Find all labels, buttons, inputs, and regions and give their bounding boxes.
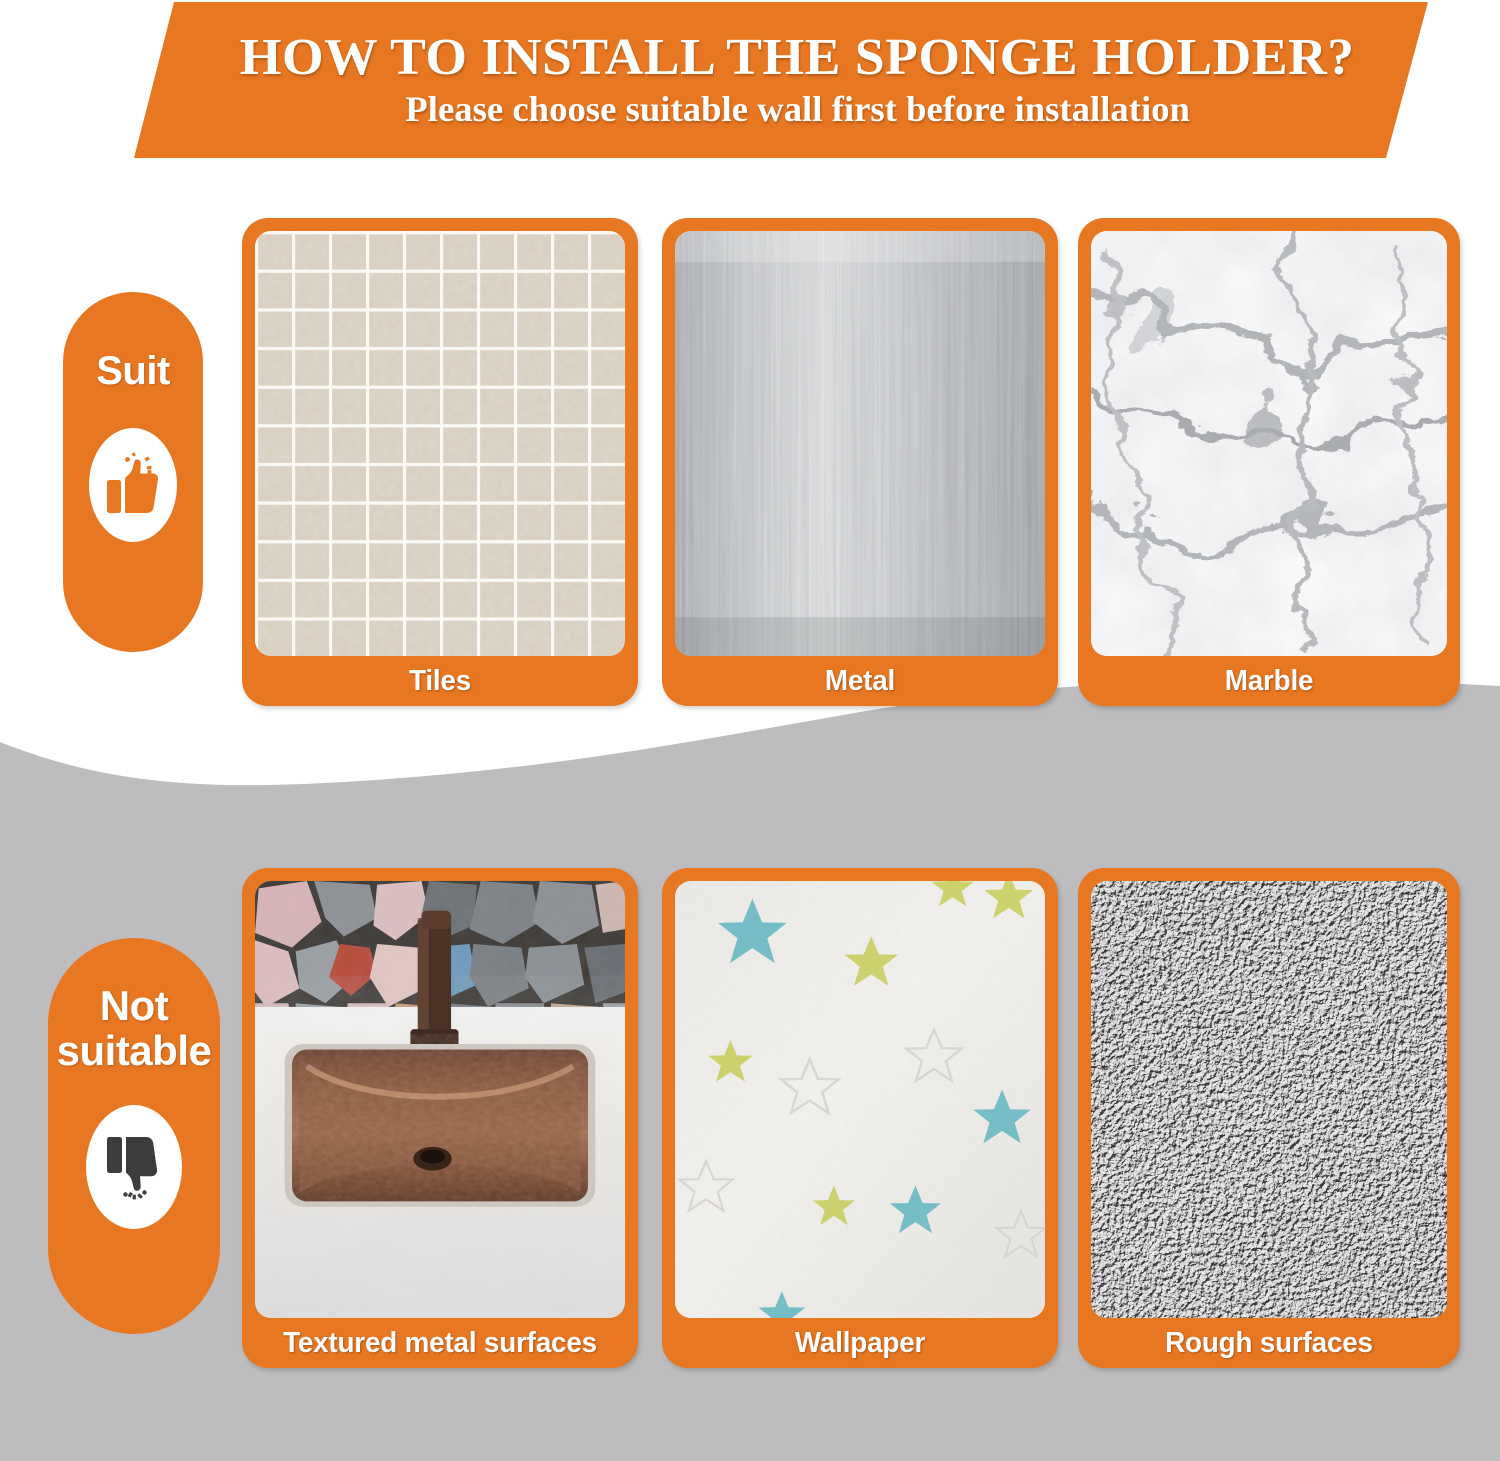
card-wallpaper: Wallpaper (662, 868, 1058, 1368)
card-wallpaper-image (675, 881, 1045, 1318)
card-marble: Marble (1078, 218, 1460, 706)
mosaic-tile-texture (255, 231, 625, 656)
card-metal-image (675, 231, 1045, 656)
marble-texture (1091, 231, 1447, 656)
star-wallpaper-texture (675, 881, 1045, 1318)
card-rough-image (1091, 881, 1447, 1318)
card-tiles-caption: Tiles (262, 656, 617, 706)
card-wallpaper-caption: Wallpaper (682, 1318, 1037, 1368)
badge-suitable-label: Suit (96, 350, 170, 392)
card-tiles: Tiles (242, 218, 638, 706)
card-rough: Rough surfaces (1078, 868, 1460, 1368)
card-tiles-image (255, 231, 625, 656)
thumbs-up-icon (105, 452, 161, 518)
badge-suitable: Suit (63, 292, 203, 652)
thumbs-down-icon (104, 1131, 164, 1203)
header-banner: HOW TO INSTALL THE SPONGE HOLDER? Please… (0, 0, 1500, 168)
rough-stucco-texture (1091, 881, 1447, 1318)
brushed-metal-texture (675, 231, 1045, 656)
badge-not-suitable-line1: Not (100, 982, 168, 1029)
badge-not-suitable-label: Not suitable (57, 984, 212, 1073)
badge-suitable-icon-circle (89, 428, 177, 542)
card-rough-caption: Rough surfaces (1098, 1318, 1440, 1368)
card-textured-metal-image (255, 881, 625, 1318)
badge-not-suitable-icon-circle (86, 1105, 182, 1229)
card-textured-metal-caption: Textured metal surfaces (262, 1318, 617, 1368)
card-metal-caption: Metal (682, 656, 1037, 706)
badge-not-suitable-line2: suitable (57, 1027, 212, 1074)
hammered-copper-sink-photo (255, 881, 625, 1318)
card-metal: Metal (662, 218, 1058, 706)
card-marble-caption: Marble (1098, 656, 1440, 706)
card-marble-image (1091, 231, 1447, 656)
card-textured-metal: Textured metal surfaces (242, 868, 638, 1368)
badge-not-suitable: Not suitable (48, 938, 220, 1334)
